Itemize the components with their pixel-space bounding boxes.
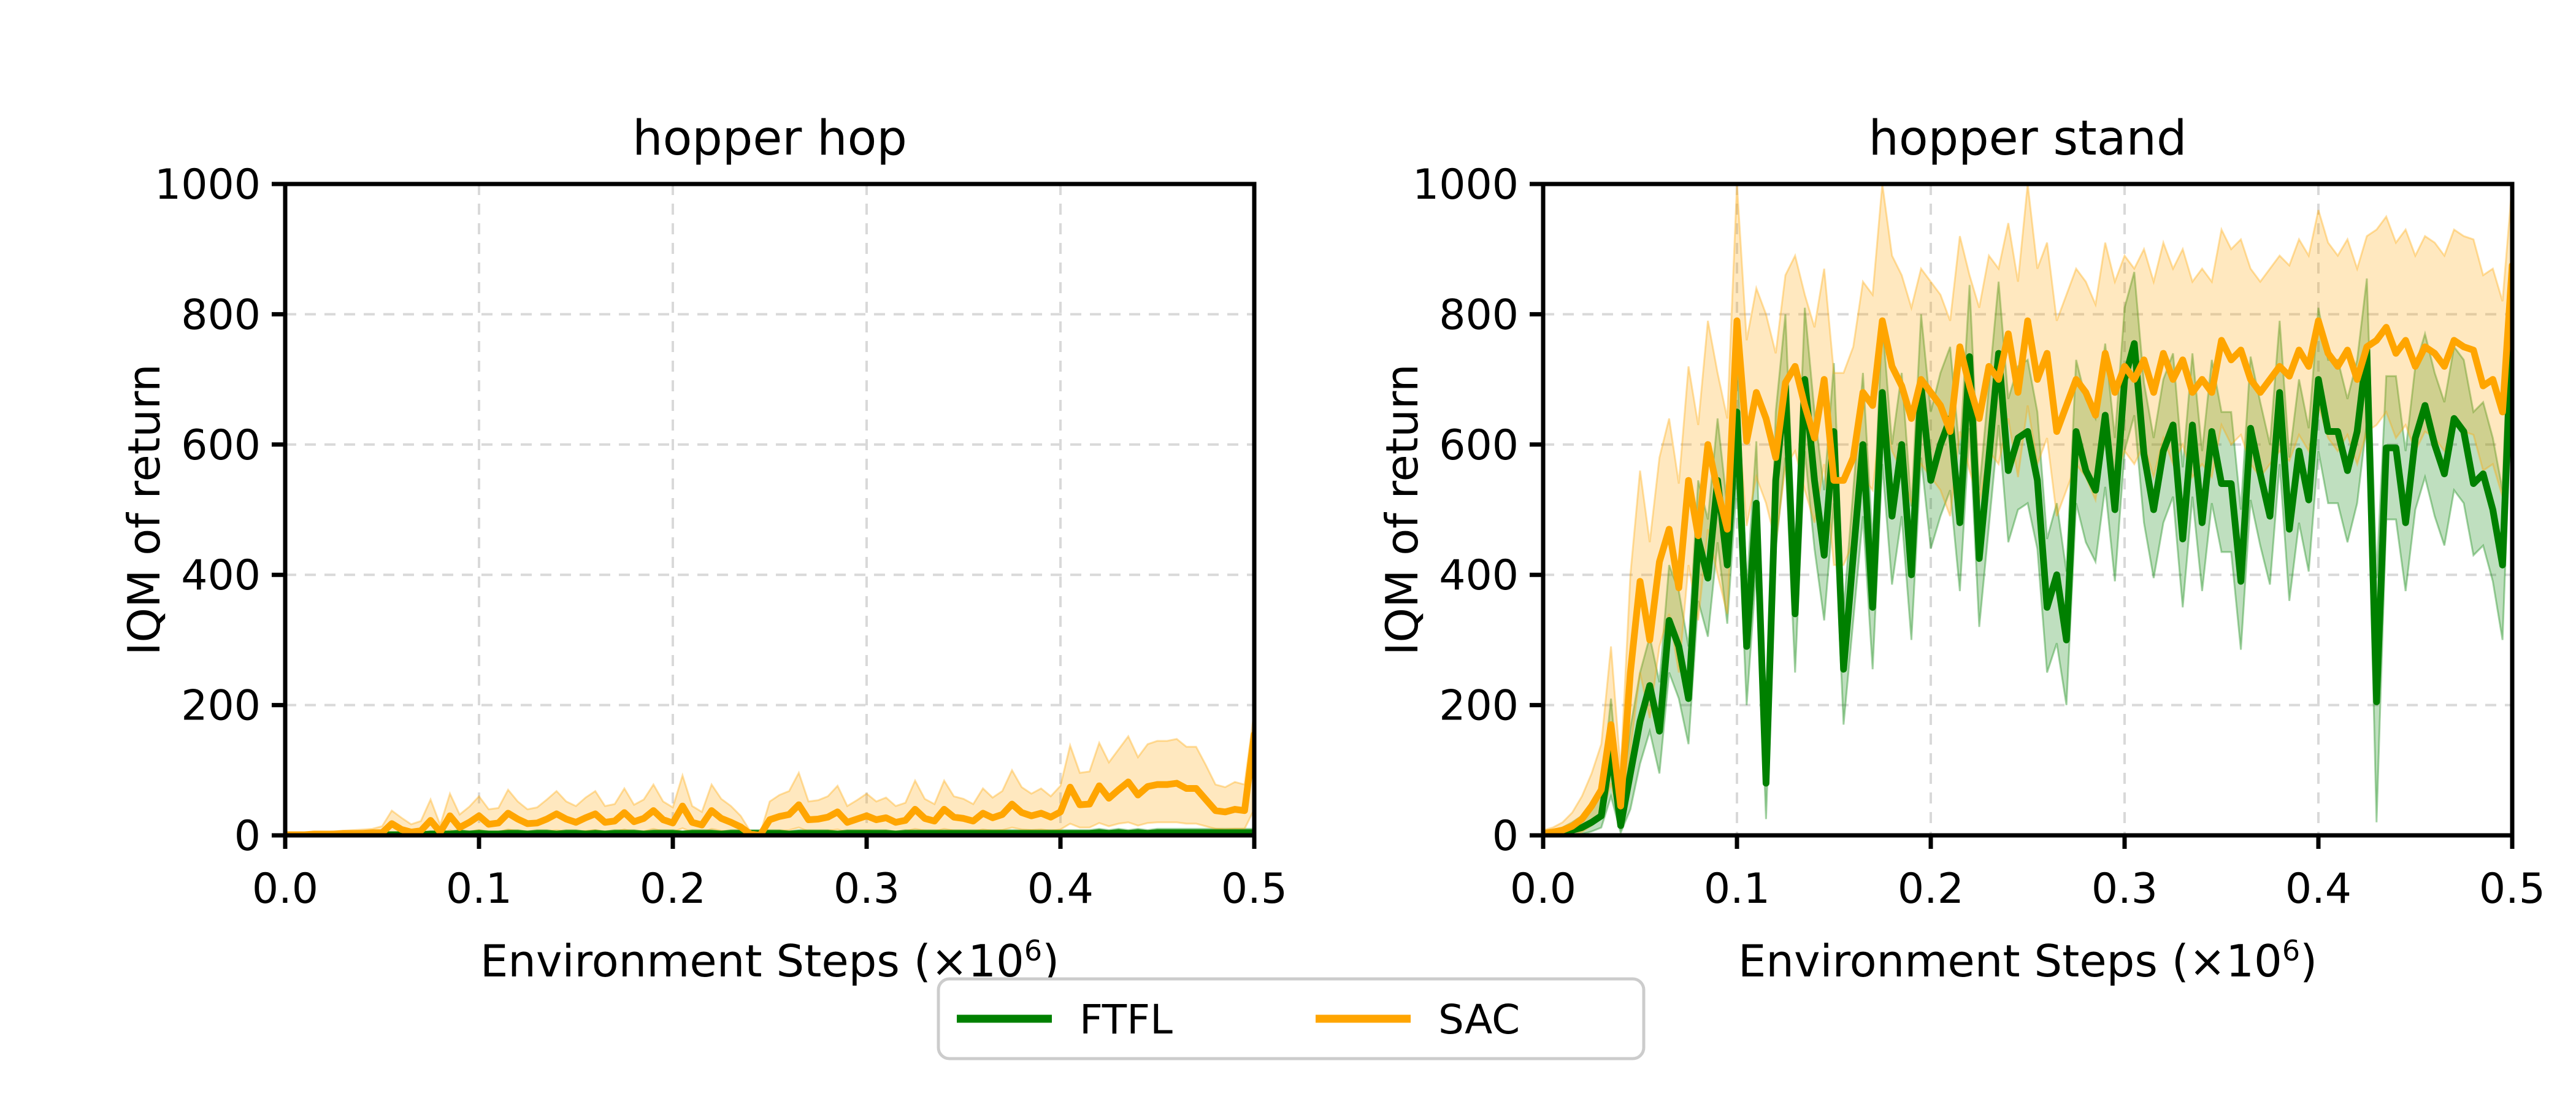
- legend-label-ftfl: FTFL: [1079, 996, 1173, 1043]
- ytick-label-4: 800: [181, 291, 261, 339]
- panel-0: 0.00.10.20.30.40.502004006008001000hoppe…: [118, 111, 1287, 987]
- xtick-label-4: 0.4: [2285, 865, 2352, 913]
- panel-title-1: hopper stand: [1869, 111, 2187, 166]
- xtick-label-1: 0.1: [1704, 865, 1770, 913]
- ytick-label-5: 1000: [155, 161, 261, 209]
- xtick-label-3: 0.3: [2091, 865, 2158, 913]
- panel-data-area: [285, 711, 1254, 835]
- yaxis-label-0: IQM of return: [118, 364, 170, 655]
- xaxis-label-main: Environment Steps (: [1738, 935, 2189, 987]
- ytick-label-0: 0: [234, 812, 261, 861]
- ytick-label-2: 400: [1439, 551, 1519, 600]
- xaxis-label-times: ×10: [2189, 935, 2282, 987]
- xtick-label-4: 0.4: [1027, 865, 1094, 913]
- ytick-label-4: 800: [1439, 291, 1519, 339]
- figure-root: 0.00.10.20.30.40.502004006008001000hoppe…: [0, 0, 2576, 1104]
- xtick-label-1: 0.1: [446, 865, 512, 913]
- panel-data-area: [1543, 184, 2512, 835]
- xtick-label-2: 0.2: [1898, 865, 1964, 913]
- ytick-label-5: 1000: [1413, 161, 1519, 209]
- legend-label-sac: SAC: [1438, 996, 1520, 1043]
- xtick-label-2: 0.2: [640, 865, 706, 913]
- ytick-label-3: 600: [1439, 421, 1519, 470]
- yaxis-label-1: IQM of return: [1376, 364, 1428, 655]
- ytick-label-2: 400: [181, 551, 261, 600]
- ytick-label-1: 200: [181, 682, 261, 730]
- chart-legend: FTFLSAC: [938, 979, 1644, 1059]
- xaxis-label-1: Environment Steps (×106): [1738, 934, 2317, 987]
- xtick-label-0: 0.0: [1510, 865, 1576, 913]
- panel-1: 0.00.10.20.30.40.502004006008001000hoppe…: [1376, 111, 2545, 987]
- xtick-label-3: 0.3: [834, 865, 900, 913]
- xaxis-label-main: Environment Steps (: [480, 935, 931, 987]
- xtick-label-0: 0.0: [252, 865, 318, 913]
- xaxis-label-exponent: 6: [2282, 934, 2300, 967]
- xaxis-label-exponent: 6: [1024, 934, 1042, 967]
- xaxis-label-close: ): [2300, 935, 2317, 987]
- chart-canvas: 0.00.10.20.30.40.502004006008001000hoppe…: [0, 0, 2576, 1104]
- ytick-label-1: 200: [1439, 682, 1519, 730]
- ytick-label-3: 600: [181, 421, 261, 470]
- panel-title-0: hopper hop: [632, 111, 907, 166]
- ytick-label-0: 0: [1492, 812, 1519, 861]
- xtick-label-5: 0.5: [2479, 865, 2545, 913]
- axes-frame: [285, 184, 1254, 835]
- xtick-label-5: 0.5: [1221, 865, 1287, 913]
